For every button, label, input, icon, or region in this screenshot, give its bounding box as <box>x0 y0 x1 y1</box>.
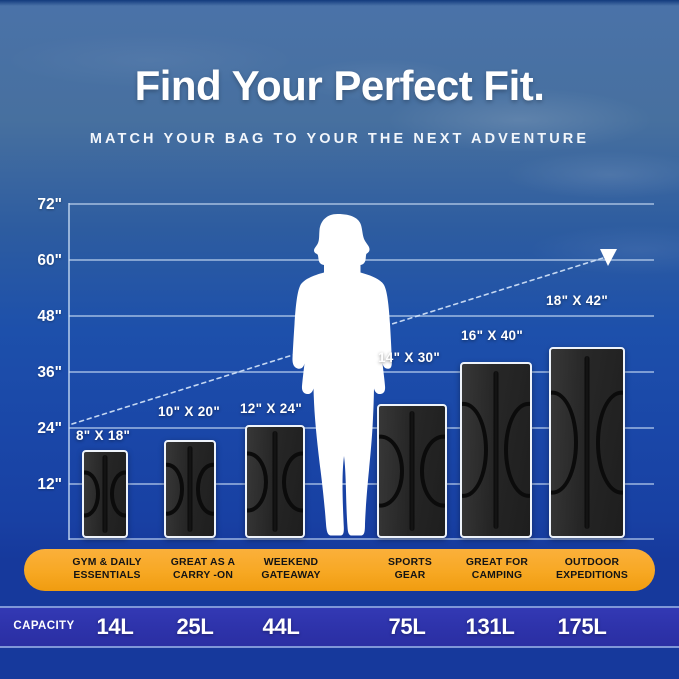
bag-arc-right <box>110 470 128 517</box>
bag-6-size-label: 18" X 42" <box>546 293 608 308</box>
bag-5[interactable] <box>460 362 532 538</box>
bag-2[interactable] <box>164 440 216 538</box>
bag-arc-right <box>196 463 216 516</box>
bag-5-size-label: 16" X 40" <box>461 328 523 343</box>
bag-arc-right <box>282 451 305 512</box>
use-case-6: OUTDOOR EXPEDITIONS <box>534 556 650 582</box>
bag-zipper <box>188 446 193 532</box>
bag-4[interactable] <box>377 404 447 538</box>
bag-arc-right <box>420 435 447 508</box>
capacity-value-2: 25L <box>150 614 240 640</box>
bag-3[interactable] <box>245 425 305 538</box>
bag-arc-right <box>596 390 625 495</box>
bag-2-size-label: 10" X 20" <box>158 404 220 419</box>
bag-1-size-label: 8" X 18" <box>76 428 130 443</box>
capacity-value-4: 75L <box>362 614 452 640</box>
bag-zipper <box>103 455 108 532</box>
bag-zipper <box>494 371 499 529</box>
bag-4-size-label: 14" X 30" <box>378 350 440 365</box>
bag-zipper <box>410 411 415 531</box>
bag-arc-right <box>504 402 532 498</box>
capacity-value-1: 14L <box>70 614 160 640</box>
bag-zipper <box>273 431 278 531</box>
use-case-1: GYM & DAILY ESSENTIALS <box>52 556 162 582</box>
bag-zipper <box>585 356 590 528</box>
capacity-value-5: 131L <box>445 614 535 640</box>
bag-6[interactable] <box>549 347 625 538</box>
bag-3-size-label: 12" X 24" <box>240 401 302 416</box>
use-case-3: WEEKEND GATEAWAY <box>232 556 350 582</box>
infographic-canvas: Find Your Perfect Fit. MATCH YOUR BAG TO… <box>0 0 679 679</box>
bag-1[interactable] <box>82 450 128 538</box>
capacity-value-3: 44L <box>236 614 326 640</box>
capacity-value-6: 175L <box>537 614 627 640</box>
